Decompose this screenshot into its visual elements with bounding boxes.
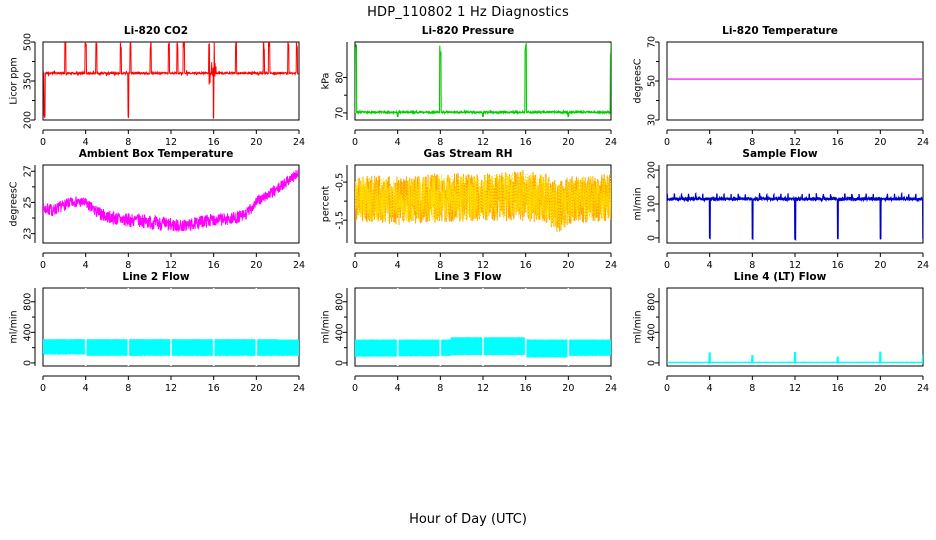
plot-area: 048121620240400800ml/min <box>312 271 624 396</box>
panel-li820-temperature: Li-820 Temperature 04812162024305070degr… <box>624 25 936 150</box>
x-tick-label: 0 <box>352 260 358 271</box>
x-tick-label: 24 <box>293 137 305 148</box>
x-tick-label: 8 <box>437 260 443 271</box>
series-gap <box>85 288 87 366</box>
x-tick-label: 24 <box>293 260 305 271</box>
x-tick-label: 12 <box>165 137 177 148</box>
series-line <box>667 193 923 239</box>
x-tick-label: 24 <box>293 383 305 394</box>
y-tick-label: 0 <box>335 360 346 366</box>
data-series <box>667 193 923 239</box>
x-tick-label: 0 <box>352 137 358 148</box>
x-tick-label: 16 <box>832 383 844 394</box>
x-tick-label: 20 <box>874 137 886 148</box>
x-tick-label: 24 <box>917 137 929 148</box>
x-tick-label: 24 <box>605 383 617 394</box>
panel-gas-stream-rh: Gas Stream RH 04812162024-1.5-0.5percent <box>312 148 624 273</box>
y-tick-label: 500 <box>23 33 34 51</box>
x-tick-label: 4 <box>395 383 401 394</box>
x-tick-label: 16 <box>520 383 532 394</box>
y-tick-label: 400 <box>647 323 658 341</box>
y-tick-label: 200 <box>647 161 658 179</box>
y-tick-label: -1.5 <box>335 211 346 230</box>
x-tick-label: 20 <box>562 137 574 148</box>
x-tick-label: 16 <box>208 137 220 148</box>
plot-frame <box>43 42 299 120</box>
x-tick-label: 4 <box>707 383 713 394</box>
y-tick-label: 30 <box>647 114 658 126</box>
y-tick-label: 0 <box>647 360 658 366</box>
y-axis-title: kPa <box>321 73 332 90</box>
y-tick-label: 50 <box>647 75 658 87</box>
plot-frame <box>355 42 611 120</box>
y-tick-label: 350 <box>23 72 34 90</box>
panel-sample-flow: Sample Flow 048121620240100200ml/min <box>624 148 936 273</box>
x-tick-label: 16 <box>520 260 532 271</box>
y-tick-label: 27 <box>23 165 34 177</box>
series-gap <box>397 288 399 366</box>
plot-area: 048121620240400800ml/min <box>0 271 312 396</box>
plot-area: 04812162024305070degreesC <box>624 25 936 150</box>
series-gap <box>525 288 527 366</box>
x-tick-label: 20 <box>562 260 574 271</box>
plot-area: 048121620240400800ml/min <box>624 271 936 396</box>
x-tick-label: 16 <box>208 383 220 394</box>
x-tick-label: 12 <box>165 383 177 394</box>
panel-line-4-lt-flow: Line 4 (LT) Flow 048121620240400800ml/mi… <box>624 271 936 396</box>
plot-area: 04812162024200350500Licor ppm <box>0 25 312 150</box>
x-tick-label: 24 <box>917 383 929 394</box>
x-tick-label: 16 <box>832 260 844 271</box>
y-axis-title: ml/min <box>9 310 20 343</box>
series-gap <box>213 288 215 366</box>
x-tick-label: 4 <box>707 260 713 271</box>
x-tick-label: 16 <box>520 137 532 148</box>
series-line <box>43 169 299 231</box>
x-tick-label: 24 <box>605 260 617 271</box>
x-tick-label: 4 <box>707 137 713 148</box>
x-tick-label: 12 <box>789 137 801 148</box>
data-series <box>355 43 611 116</box>
plot-area: 048121620247080kPa <box>312 25 624 150</box>
x-tick-label: 20 <box>874 383 886 394</box>
diagnostics-figure: HDP_110802 1 Hz Diagnostics Li-820 CO2 0… <box>0 0 936 540</box>
panel-line-2-flow: Line 2 Flow 048121620240400800ml/min <box>0 271 312 396</box>
x-tick-label: 8 <box>437 383 443 394</box>
data-series <box>43 41 299 119</box>
data-series <box>43 169 299 231</box>
plot-area: 04812162024232527degreesC <box>0 148 312 273</box>
y-tick-label: 0 <box>647 235 658 241</box>
y-tick-label: 800 <box>335 293 346 311</box>
series-gap <box>440 288 442 366</box>
figure-xlabel: Hour of Day (UTC) <box>0 512 936 527</box>
x-tick-label: 12 <box>477 260 489 271</box>
y-tick-label: 400 <box>23 323 34 341</box>
y-tick-label: -0.5 <box>335 173 346 192</box>
x-tick-label: 20 <box>250 137 262 148</box>
series-gap <box>256 288 258 366</box>
x-tick-label: 20 <box>250 260 262 271</box>
panel-line-3-flow: Line 3 Flow 048121620240400800ml/min <box>312 271 624 396</box>
panel-li820-co2: Li-820 CO2 04812162024200350500Licor ppm <box>0 25 312 150</box>
plot-area: 048121620240100200ml/min <box>624 148 936 273</box>
x-tick-label: 0 <box>40 260 46 271</box>
x-tick-label: 20 <box>874 260 886 271</box>
y-tick-label: 25 <box>23 196 34 208</box>
x-tick-label: 4 <box>83 260 89 271</box>
x-tick-label: 8 <box>749 260 755 271</box>
y-tick-label: 200 <box>23 111 34 129</box>
x-tick-label: 4 <box>83 383 89 394</box>
x-tick-label: 8 <box>125 137 131 148</box>
data-series <box>355 171 611 232</box>
y-axis-title: percent <box>321 186 332 223</box>
x-tick-label: 12 <box>477 383 489 394</box>
y-tick-label: 70 <box>335 107 346 119</box>
x-tick-label: 8 <box>125 383 131 394</box>
y-tick-label: 70 <box>647 36 658 48</box>
series-line <box>43 41 299 119</box>
series-line <box>667 352 923 362</box>
y-tick-label: 100 <box>647 195 658 213</box>
y-axis-title: degreesC <box>9 181 20 226</box>
x-tick-label: 4 <box>83 137 89 148</box>
y-tick-label: 400 <box>335 323 346 341</box>
x-tick-label: 4 <box>395 137 401 148</box>
y-axis-title: ml/min <box>633 310 644 343</box>
x-tick-label: 0 <box>352 383 358 394</box>
y-tick-label: 23 <box>23 228 34 240</box>
x-tick-label: 20 <box>562 383 574 394</box>
y-axis-title: ml/min <box>633 187 644 220</box>
data-series <box>43 288 299 366</box>
x-tick-label: 12 <box>789 383 801 394</box>
figure-title: HDP_110802 1 Hz Diagnostics <box>0 5 936 20</box>
series-gap <box>128 288 130 366</box>
x-tick-label: 0 <box>664 383 670 394</box>
x-tick-label: 12 <box>165 260 177 271</box>
data-series <box>667 352 923 362</box>
x-tick-label: 0 <box>664 137 670 148</box>
y-axis-title: degreesC <box>633 58 644 103</box>
y-axis-title: Licor ppm <box>9 57 20 104</box>
x-tick-label: 4 <box>395 260 401 271</box>
x-tick-label: 8 <box>437 137 443 148</box>
series-gap <box>482 288 484 366</box>
series-gap <box>170 288 172 366</box>
x-tick-label: 24 <box>917 260 929 271</box>
x-tick-label: 20 <box>250 383 262 394</box>
x-tick-label: 12 <box>789 260 801 271</box>
panel-ambient-box-temperature: Ambient Box Temperature 0481216202423252… <box>0 148 312 273</box>
y-tick-label: 80 <box>335 71 346 83</box>
data-series <box>355 288 611 366</box>
panel-li820-pressure: Li-820 Pressure 048121620247080kPa <box>312 25 624 150</box>
y-tick-label: 0 <box>23 360 34 366</box>
x-tick-label: 16 <box>832 137 844 148</box>
y-tick-label: 800 <box>647 293 658 311</box>
plot-area: 04812162024-1.5-0.5percent <box>312 148 624 273</box>
series-line <box>355 43 611 116</box>
plot-frame <box>667 42 923 120</box>
x-tick-label: 24 <box>605 137 617 148</box>
y-tick-label: 800 <box>23 293 34 311</box>
x-tick-label: 0 <box>40 383 46 394</box>
x-tick-label: 8 <box>749 383 755 394</box>
x-tick-label: 8 <box>125 260 131 271</box>
x-tick-label: 0 <box>664 260 670 271</box>
series-gap <box>568 288 570 366</box>
x-tick-label: 12 <box>477 137 489 148</box>
x-tick-label: 8 <box>749 137 755 148</box>
x-tick-label: 0 <box>40 137 46 148</box>
y-axis-title: ml/min <box>321 310 332 343</box>
x-tick-label: 16 <box>208 260 220 271</box>
